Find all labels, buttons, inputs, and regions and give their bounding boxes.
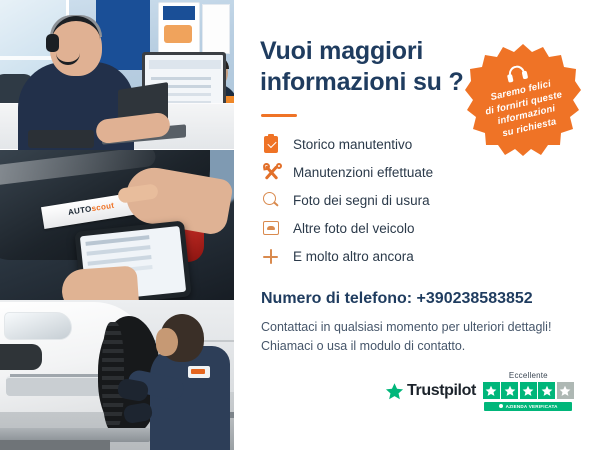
page-title: Vuoi maggiori informazioni su ?: [260, 36, 480, 98]
car-headlight-decor: [4, 312, 72, 340]
trustpilot-wordmark: Trustpilot: [407, 382, 476, 400]
verified-label: AZIENDA VERIFICATA: [506, 404, 558, 409]
sticker-brand-text: AUTOscout: [67, 201, 114, 217]
feature-item-molto-altro: E molto altro ancora: [261, 242, 561, 270]
verified-dot-icon: [499, 404, 503, 408]
page-title-line-1: Vuoi maggiori: [260, 36, 480, 67]
uniform-badge-decor: [188, 366, 210, 378]
star-filled: [520, 382, 537, 399]
feature-list: Storico manutentivo Manutenzioni effettu…: [261, 130, 561, 270]
trustpilot-star-row: [483, 382, 574, 399]
contact-line-1: Contattaci in qualsiasi momento per ulte…: [261, 318, 551, 337]
trustpilot-rating-widget[interactable]: Trustpilot Eccellente AZIENDA VERIFICATA: [385, 368, 585, 414]
trustpilot-star-icon: [385, 382, 404, 401]
clipboard-check-icon: [261, 135, 283, 153]
feature-label: Storico manutentivo: [293, 137, 412, 152]
feature-item-altre-foto-veicolo: Altre foto del veicolo: [261, 214, 561, 242]
tire-tread-decor: [102, 322, 124, 430]
car-grille-decor: [0, 344, 42, 370]
feature-item-foto-segni-usura: Foto dei segni di usura: [261, 186, 561, 214]
car-lower-grille-decor: [6, 376, 102, 396]
mechanic-body-decor: [150, 346, 230, 450]
star-filled: [483, 382, 500, 399]
feature-item-manutenzioni-effettuate: Manutenzioni effettuate: [261, 158, 561, 186]
agent-one-earcup-decor: [46, 34, 59, 52]
photo-technician-tablet-sticker: AUTOscout: [0, 150, 234, 300]
crossed-tools-icon: [261, 163, 283, 181]
page-title-line-2: informazioni su ?: [260, 67, 480, 98]
feature-label: Altre foto del veicolo: [293, 221, 415, 236]
mechanic-face-decor: [156, 328, 178, 356]
trustpilot-logo: Trustpilot: [385, 382, 476, 401]
content-panel: Vuoi maggiori informazioni su ? Saremo f…: [237, 0, 600, 450]
feature-label: Manutenzioni effettuate: [293, 165, 433, 180]
photo-column: AUTOscout: [0, 0, 234, 450]
star-filled: [538, 382, 555, 399]
focus-frame-car-icon: [261, 219, 283, 237]
magnifier-icon: [261, 191, 283, 209]
contact-instructions: Contattaci in qualsiasi momento per ulte…: [261, 318, 551, 356]
feature-item-storico-manutentivo: Storico manutentivo: [261, 130, 561, 158]
photo-call-center-agents: [0, 0, 234, 150]
contact-line-2: Chiamaci o usa il modulo di contatto.: [261, 337, 551, 356]
feature-label: E molto altro ancora: [293, 249, 414, 264]
photo-mechanic-wheel-service: [0, 300, 234, 450]
title-underline-divider: [261, 114, 297, 117]
wall-poster-secondary-decor: [202, 4, 230, 54]
star-filled: [501, 382, 518, 399]
technician-hand-lower-decor: [61, 265, 140, 300]
car-lift-base-decor: [0, 440, 110, 450]
star-half: [557, 382, 574, 399]
tablet-on-desk-decor: [28, 130, 94, 148]
feature-label: Foto dei segni di usura: [293, 193, 430, 208]
headset-icon: [505, 64, 528, 84]
promo-advert-page: AUTOscout: [0, 0, 600, 450]
trustpilot-score-block: Eccellente AZIENDA VERIFICATA: [483, 371, 574, 411]
phone-number-line[interactable]: Numero di telefono: +390238583852: [261, 290, 533, 308]
trustpilot-rating-label: Eccellente: [509, 371, 548, 380]
car-chrome-trim-decor: [10, 374, 98, 377]
plus-icon: [261, 247, 283, 265]
trustpilot-verified-badge: AZIENDA VERIFICATA: [484, 402, 572, 411]
